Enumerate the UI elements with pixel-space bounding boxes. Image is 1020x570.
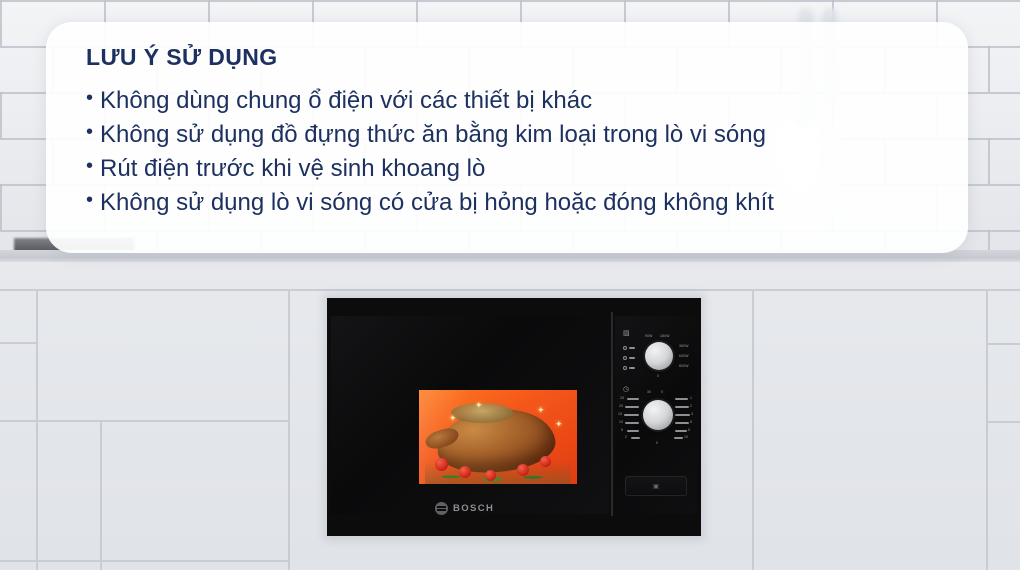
list-item-label: Không sử dụng lò vi sóng có cửa bị hỏng … [100, 186, 774, 220]
microwave-icon: ▨ [623, 330, 630, 337]
cabinet-seam [988, 421, 1020, 423]
timer-label-r8: 8 [688, 428, 690, 432]
oven-door[interactable]: ✦ ✦ ✦ ✦ BOSCH [331, 316, 609, 514]
control-panel: ▨ 90W 180W 360W 600W 800W 0 ◷ 30 0 [615, 316, 697, 514]
timer-label-5: 5 [621, 428, 623, 432]
sparkle-icon: ✦ [475, 401, 483, 410]
timer-label-10: 10 [619, 420, 623, 424]
list-item-label: Rút điện trước khi vệ sinh khoang lò [100, 152, 485, 186]
usage-notes-list: • Không dùng chung ổ điện với các thiết … [86, 84, 942, 220]
timer-tick [674, 437, 683, 439]
power-label-600w: 600W [679, 354, 689, 358]
list-item-label: Không dùng chung ổ điện với các thiết bị… [100, 84, 592, 118]
bosch-emblem-icon [435, 502, 448, 515]
cabinet-seam [988, 343, 1020, 345]
brand-logo: BOSCH [435, 502, 494, 515]
brand-name: BOSCH [453, 503, 494, 514]
timer-tick [675, 414, 690, 416]
usage-notes-card: LƯU Ý SỬ DỤNG • Không dùng chung ổ điện … [46, 22, 968, 253]
timer-label-25: 25 [620, 396, 624, 400]
power-label-800w: 800W [679, 364, 689, 368]
clock-icon: ◷ [623, 386, 629, 393]
cabinet-seam [288, 289, 290, 570]
timer-label-r3: 3 [691, 412, 693, 416]
bullet-icon: • [86, 186, 93, 214]
timer-tick [675, 430, 687, 432]
power-tick [629, 347, 635, 349]
power-label-360w: 360W [679, 344, 689, 348]
door-open-button[interactable]: ▣ [625, 476, 687, 496]
defrost-icon[interactable] [623, 346, 627, 350]
cabinet-seam [100, 422, 102, 570]
timer-label-30: 30 [647, 390, 651, 394]
list-item: • Không sử dụng lò vi sóng có cửa bị hỏn… [86, 186, 942, 220]
tomato-icon [485, 470, 496, 481]
combi-icon[interactable] [623, 366, 627, 370]
timer-label-20: 20 [619, 404, 623, 408]
tomato-icon [435, 458, 448, 471]
timer-label-15: 15 [618, 412, 622, 416]
timer-label-2: 2 [625, 435, 627, 439]
timer-tick [675, 422, 689, 424]
timer-tick [675, 398, 688, 400]
list-item-label: Không sử dụng đồ đựng thức ăn bằng kim l… [100, 118, 766, 152]
cabinet-seam [986, 289, 988, 570]
timer-tick [675, 406, 689, 408]
power-tick [629, 357, 635, 359]
timer-tick [625, 422, 639, 424]
bullet-icon: • [86, 118, 93, 146]
tomato-icon [540, 456, 551, 467]
timer-tick [624, 414, 639, 416]
timer-label-r10: 10 [684, 435, 688, 439]
timer-label-0-top: 0 [661, 390, 663, 394]
sparkle-icon: ✦ [555, 420, 563, 429]
list-item: • Không dùng chung ổ điện với các thiết … [86, 84, 942, 118]
timer-tick [627, 398, 639, 400]
power-label-90w: 90W [645, 334, 653, 338]
tomato-icon [459, 466, 471, 478]
scene-root: LƯU Ý SỬ DỤNG • Không dùng chung ổ điện … [0, 0, 1020, 570]
power-tick [629, 367, 635, 369]
cabinet-seam [0, 420, 290, 422]
cabinet-seam [0, 289, 1020, 291]
timer-tick [625, 406, 639, 408]
power-label-zero: 0 [657, 374, 659, 378]
grill-icon[interactable] [623, 356, 627, 360]
door-open-icon: ▣ [653, 483, 659, 490]
timer-tick [627, 430, 639, 432]
timer-knob[interactable] [643, 400, 673, 430]
timer-label-r5: 5 [690, 420, 692, 424]
timer-label-r1: 1 [690, 396, 692, 400]
page-title: LƯU Ý SỬ DỤNG [86, 44, 942, 71]
tomato-icon [517, 464, 529, 476]
cabinet-seam [36, 289, 38, 570]
sparkle-icon: ✦ [449, 414, 457, 423]
timer-tick [631, 437, 640, 439]
timer-label-zero: 0 [656, 441, 658, 445]
cabinet-seam [0, 342, 38, 344]
list-item: • Không sử dụng đồ đựng thức ăn bằng kim… [86, 118, 942, 152]
oven-door-window: ✦ ✦ ✦ ✦ [419, 390, 577, 484]
power-label-180w: 180W [660, 334, 670, 338]
power-knob[interactable] [645, 342, 673, 370]
door-panel-seam [611, 312, 613, 516]
timer-label-r2: 2 [690, 404, 692, 408]
bullet-icon: • [86, 84, 93, 112]
sparkle-icon: ✦ [537, 406, 545, 415]
list-item: • Rút điện trước khi vệ sinh khoang lò [86, 152, 942, 186]
bullet-icon: • [86, 152, 93, 180]
microwave-oven: ✦ ✦ ✦ ✦ BOSCH ▨ 90W 180W 360W 600W [327, 298, 701, 536]
cabinet-seam [0, 560, 290, 562]
cabinet-seam [752, 289, 754, 570]
